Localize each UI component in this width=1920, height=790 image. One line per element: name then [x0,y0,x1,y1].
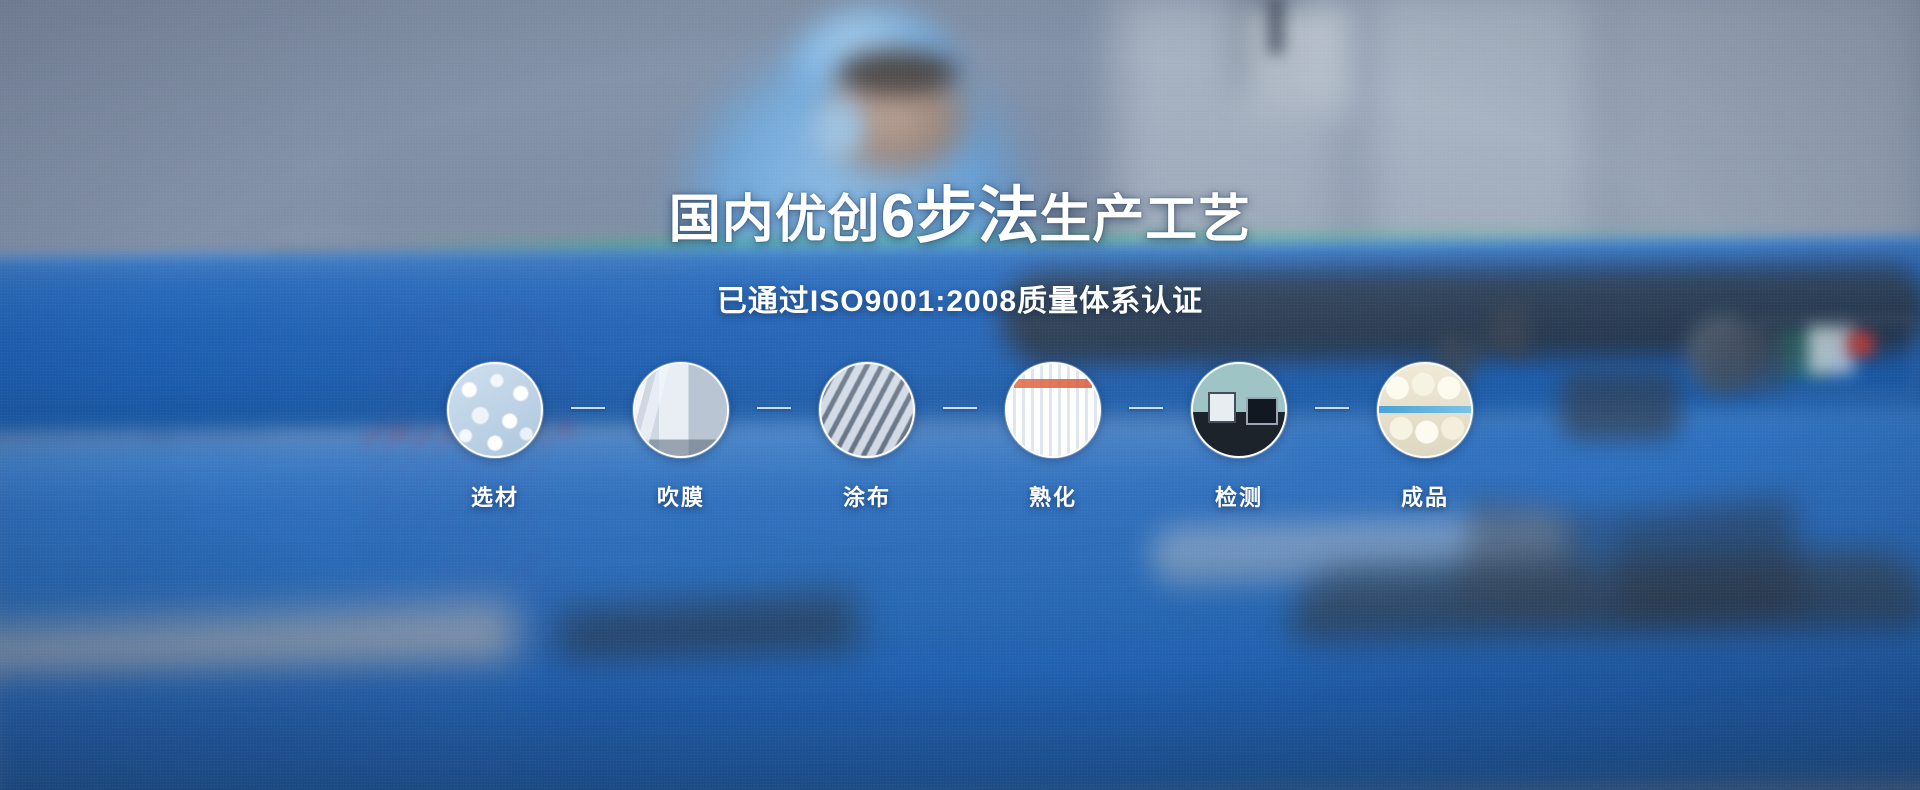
step-connector-3 [937,362,983,454]
step-label-5: 检测 [1215,480,1263,512]
process-step-5[interactable]: 检测 [1169,362,1309,512]
banner-headline: 国内优创6步法生产工艺 [0,186,1920,248]
step-connector-5 [1309,362,1355,454]
step-thumbnail-finished[interactable] [1377,362,1473,458]
step-thumbnail-blowing[interactable] [633,362,729,458]
connector-line-icon [571,407,605,409]
headline-emphasis: 6步法 [881,182,1039,251]
step-label-3: 涂布 [843,480,891,512]
step-thumbnail-coating[interactable] [819,362,915,458]
process-step-4[interactable]: 熟化 [983,362,1123,512]
headline-prefix: 国内优创 [669,191,881,249]
headline-suffix: 生产工艺 [1039,191,1251,249]
banner-subtitle: 已通过ISO9001:2008质量体系认证 [0,276,1920,320]
coating-line-icon [821,364,913,456]
connector-line-icon [1315,407,1349,409]
step-label-4: 熟化 [1029,480,1077,512]
process-step-1[interactable]: 选材 [425,362,565,512]
step-label-2: 吹膜 [657,480,705,512]
process-step-3[interactable]: 涂布 [797,362,937,512]
connector-line-icon [943,407,977,409]
plastic-pellets-icon [449,364,541,456]
step-label-6: 成品 [1401,480,1449,512]
step-thumbnail-testing[interactable] [1191,362,1287,458]
step-connector-4 [1123,362,1169,454]
connector-line-icon [1129,407,1163,409]
process-step-2[interactable]: 吹膜 [611,362,751,512]
finished-rolls-icon [1379,364,1471,456]
connector-line-icon [757,407,791,409]
banner-content: 国内优创6步法生产工艺 已通过ISO9001:2008质量体系认证 选材 吹膜 [0,0,1920,790]
film-blowing-icon [635,364,727,456]
step-thumbnail-selection[interactable] [447,362,543,458]
hero-banner: 国内优创6步法生产工艺 已通过ISO9001:2008质量体系认证 选材 吹膜 [0,0,1920,790]
process-steps: 选材 吹膜 涂布 熟化 [0,362,1920,512]
step-connector-1 [565,362,611,454]
step-label-1: 选材 [471,480,519,512]
step-connector-2 [751,362,797,454]
testing-equipment-icon [1193,364,1285,456]
step-thumbnail-curing[interactable] [1005,362,1101,458]
curing-room-icon [1007,364,1099,456]
process-step-6[interactable]: 成品 [1355,362,1495,512]
